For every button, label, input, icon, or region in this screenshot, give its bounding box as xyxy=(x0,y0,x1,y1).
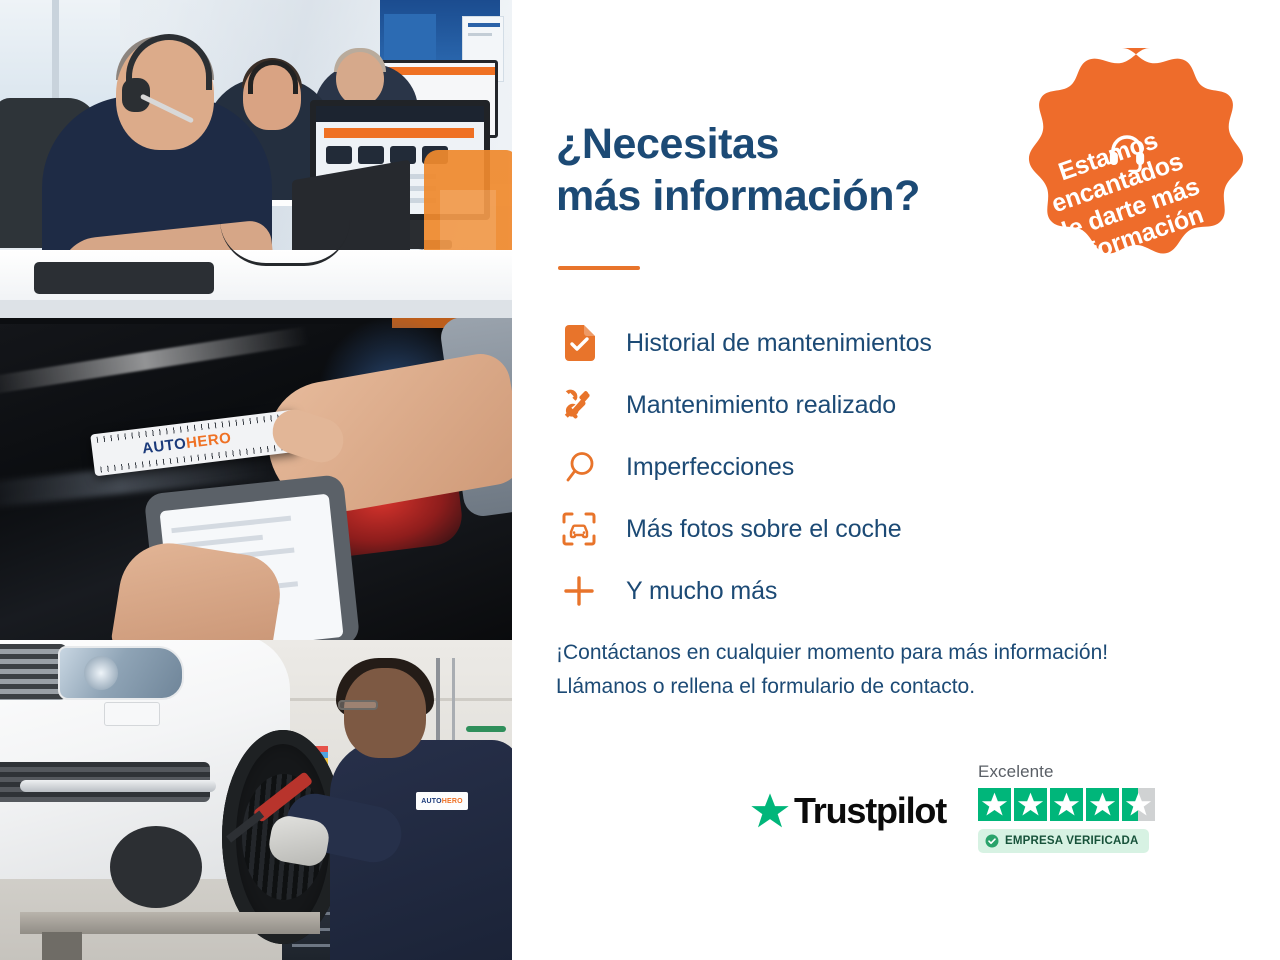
verified-label: EMPRESA VERIFICADA xyxy=(1005,835,1139,847)
contact-text: ¡Contáctanos en cualquier momento para m… xyxy=(556,636,1246,704)
trustpilot-wordmark: Trustpilot xyxy=(794,790,946,832)
feature-item-mantenimiento[interactable]: Mantenimiento realizado xyxy=(556,374,1076,436)
car-photo-frame-icon xyxy=(556,511,602,547)
star-filled xyxy=(978,788,1011,821)
car-lift-rail xyxy=(20,912,320,934)
document-check-icon xyxy=(556,325,602,361)
trustpilot-widget[interactable]: Trustpilot Excelente xyxy=(750,762,1170,882)
trustpilot-star-icon xyxy=(750,791,790,831)
feature-label: Mantenimiento realizado xyxy=(626,391,896,420)
star-filled xyxy=(1050,788,1083,821)
feature-list: Historial de mantenimientos Man xyxy=(556,312,1076,622)
feature-label: Y mucho más xyxy=(626,577,777,606)
car-lift-column xyxy=(42,932,82,960)
chrome-trim xyxy=(20,780,216,792)
monitor-orange-bar xyxy=(324,128,474,138)
license-plate-area xyxy=(104,702,160,726)
tools-wrench-screwdriver-icon xyxy=(556,387,602,423)
info-badge: Estamos encantados de darte más informac… xyxy=(988,44,1256,312)
monitor-card xyxy=(358,146,384,164)
tablet-row xyxy=(171,516,291,534)
trustpilot-rating: Excelente xyxy=(978,762,1155,853)
logo-part-hero: HERO xyxy=(442,798,463,805)
verified-badge: EMPRESA VERIFICADA xyxy=(978,829,1149,853)
star-rating xyxy=(978,788,1155,821)
feature-label: Imperfecciones xyxy=(626,453,794,482)
page-title: ¿Necesitas más información? xyxy=(556,118,920,223)
tablet-on-desk xyxy=(34,262,214,294)
photo-column: AUTOHERO xyxy=(0,0,512,960)
feature-item-historial[interactable]: Historial de mantenimientos xyxy=(556,312,1076,374)
mechanic-glasses xyxy=(338,700,378,710)
car-inspection-ruler-photo: AUTOHERO xyxy=(0,318,512,640)
info-promo-page: AUTOHERO xyxy=(0,0,1280,960)
call-center-agents-photo xyxy=(0,0,512,318)
logo-part-hero: HERO xyxy=(185,430,232,452)
feature-item-imperfecciones[interactable]: Imperfecciones xyxy=(556,436,1076,498)
star-filled xyxy=(1014,788,1047,821)
car-gloss-highlight xyxy=(0,326,309,395)
feature-item-mas[interactable]: Y mucho más xyxy=(556,560,1076,622)
desk-front-edge xyxy=(0,300,512,318)
star-filled xyxy=(1086,788,1119,821)
magnifier-icon xyxy=(556,450,602,484)
content-panel: ¿Necesitas más información? Estamos enca… xyxy=(512,0,1280,960)
monitor-card xyxy=(326,146,352,164)
feature-label: Más fotos sobre el coche xyxy=(626,515,902,544)
star-half-filled xyxy=(1122,788,1155,821)
mechanic-head xyxy=(344,668,426,758)
trustpilot-logo: Trustpilot xyxy=(750,790,946,832)
feature-item-fotos[interactable]: Más fotos sobre el coche xyxy=(556,498,1076,560)
logo-part-auto: AUTO xyxy=(141,435,187,457)
plus-icon xyxy=(556,574,602,608)
check-circle-icon xyxy=(985,834,999,848)
feature-label: Historial de mantenimientos xyxy=(626,329,932,358)
workshop-wheel-photo: AUTOHERO xyxy=(0,640,512,960)
car-headlight xyxy=(58,646,184,700)
logo-part-auto: AUTO xyxy=(421,798,442,805)
wheel-hub xyxy=(110,826,202,908)
green-hose-decor xyxy=(466,726,506,732)
monitor-topbar xyxy=(316,106,484,122)
title-divider xyxy=(558,266,640,270)
agent-three-head xyxy=(336,52,384,106)
rating-label: Excelente xyxy=(978,762,1155,782)
autohero-logo-polo: AUTOHERO xyxy=(416,792,468,810)
